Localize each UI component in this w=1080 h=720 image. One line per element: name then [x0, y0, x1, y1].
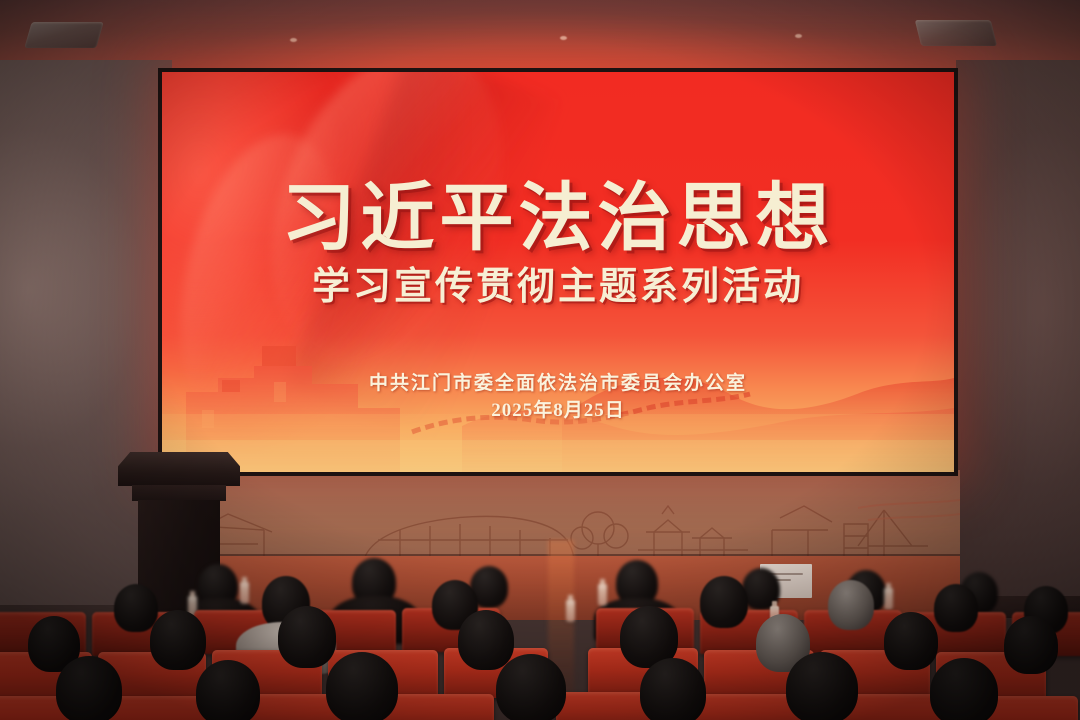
water-bottle-icon — [598, 584, 607, 606]
ceiling-spot-icon — [795, 34, 802, 38]
audience-area — [0, 540, 1080, 720]
attendee-head — [884, 612, 938, 670]
ceiling-light-left-icon — [24, 22, 103, 48]
attendee-head — [934, 584, 978, 632]
led-screen: 习近平法治思想 学习宣传贯彻主题系列活动 中共江门市委全面依法治市委员会办公室 … — [162, 72, 954, 472]
attendee-head — [786, 652, 858, 720]
screen-organization: 中共江门市委全面依法治市委员会办公室 — [162, 368, 954, 395]
attendee-head — [150, 610, 206, 670]
screen-subtitle: 学习宣传贯彻主题系列活动 — [162, 255, 954, 310]
water-bottle-icon — [566, 600, 575, 622]
conference-hall-scene: 习近平法治思想 学习宣传贯彻主题系列活动 中共江门市委全面依法治市委员会办公室 … — [0, 0, 1080, 720]
water-bottle-icon — [240, 582, 249, 604]
attendee-head — [828, 580, 874, 630]
screen-main-title: 习近平法治思想 — [162, 158, 954, 265]
attendee-head — [326, 652, 398, 720]
attendee-head — [496, 654, 566, 720]
water-bottle-icon — [884, 588, 893, 610]
screen-text-block: 习近平法治思想 学习宣传贯彻主题系列活动 中共江门市委全面依法治市委员会办公室 … — [162, 72, 954, 472]
screen-date: 2025年8月25日 — [162, 395, 954, 422]
podium-top — [118, 452, 240, 486]
led-screen-frame: 习近平法治思想 学习宣传贯彻主题系列活动 中共江门市委全面依法治市委员会办公室 … — [158, 68, 958, 476]
attendee-head — [700, 576, 748, 628]
attendee-head — [278, 606, 336, 668]
attendee-head — [1004, 616, 1058, 674]
attendee-head — [56, 656, 122, 720]
wall-right — [956, 60, 1080, 615]
ceiling-light-right-icon — [915, 20, 997, 46]
ceiling-spot-icon — [290, 38, 297, 42]
podium-neck — [132, 485, 226, 501]
ceiling-spot-icon — [560, 36, 567, 40]
attendee-head — [930, 658, 998, 720]
attendee-head — [640, 658, 706, 720]
attendee-head — [196, 660, 260, 720]
attendee-head — [458, 610, 514, 670]
attendee-head — [114, 584, 158, 632]
